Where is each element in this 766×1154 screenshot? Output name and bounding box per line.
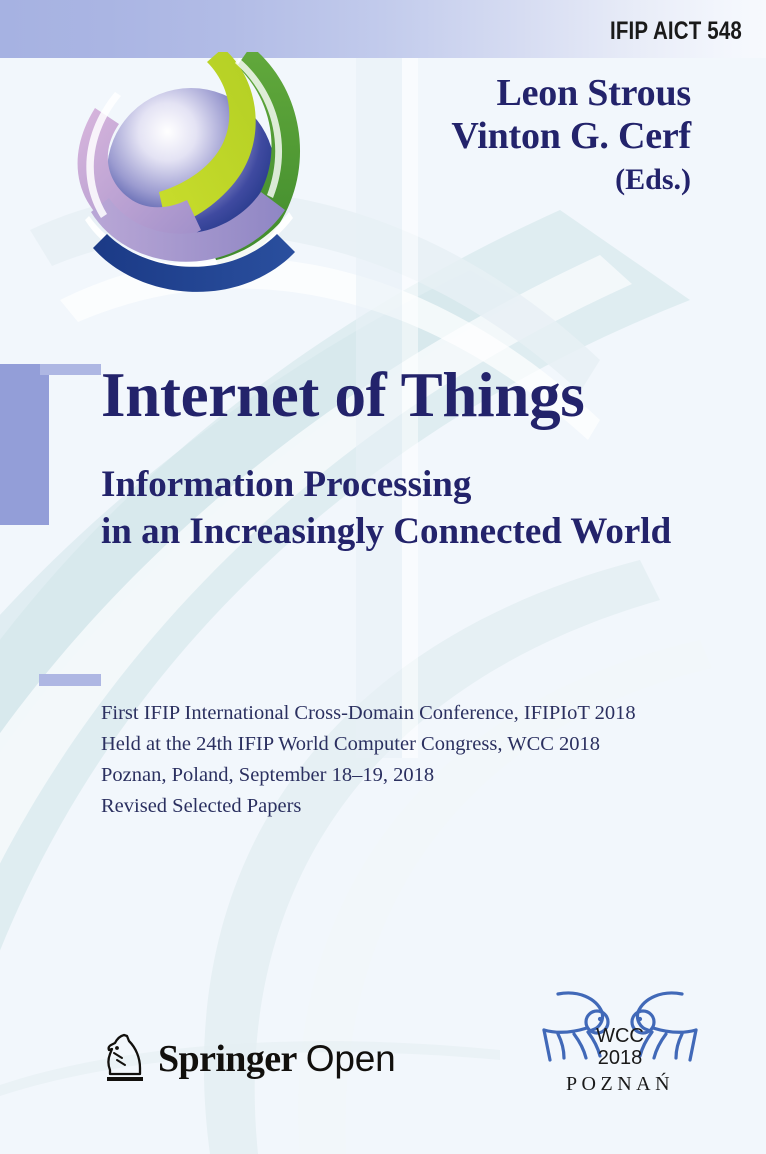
editor-name-2: Vinton G. Cerf: [451, 115, 691, 158]
right-goat-eye-icon: [638, 1017, 642, 1021]
springer-open-logo: Springer Open: [100, 1032, 395, 1086]
conference-details: First IFIP International Cross-Domain Co…: [101, 698, 636, 823]
decorative-block-square: [0, 364, 49, 525]
editor-name-1: Leon Strous: [451, 72, 691, 115]
open-imprint-label: Open: [306, 1038, 396, 1080]
wcc-acronym: WCC: [596, 1025, 644, 1047]
wcc-year: 2018: [598, 1047, 643, 1069]
wcc-poznan-logo: WCC 2018 POZNAŃ: [530, 978, 710, 1096]
editors-block: Leon Strous Vinton G. Cerf (Eds.): [451, 72, 691, 197]
decorative-bar-top: [40, 364, 101, 375]
book-cover: IFIP AICT 548: [0, 0, 766, 1154]
left-goat-eye-icon: [598, 1017, 602, 1021]
subtitle-line-1: Information Processing: [101, 462, 671, 509]
series-band: IFIP AICT 548: [0, 0, 766, 58]
springer-knight-icon: [100, 1032, 148, 1086]
decorative-bar-small: [39, 674, 101, 686]
editors-role-label: (Eds.): [451, 163, 691, 197]
conference-line-4: Revised Selected Papers: [101, 791, 636, 822]
conference-line-2: Held at the 24th IFIP World Computer Con…: [101, 729, 636, 760]
conference-line-1: First IFIP International Cross-Domain Co…: [101, 698, 636, 729]
poznan-city-label: POZNAŃ: [566, 1072, 674, 1095]
conference-line-3: Poznan, Poland, September 18–19, 2018: [101, 760, 636, 791]
subtitle-line-2: in an Increasingly Connected World: [101, 509, 671, 556]
springer-wordmark: Springer: [158, 1037, 297, 1081]
book-subtitle: Information Processing in an Increasingl…: [101, 462, 671, 555]
series-label: IFIP AICT 548: [610, 17, 742, 46]
ifip-globe-logo: [55, 52, 325, 302]
book-title: Internet of Things: [101, 359, 585, 432]
